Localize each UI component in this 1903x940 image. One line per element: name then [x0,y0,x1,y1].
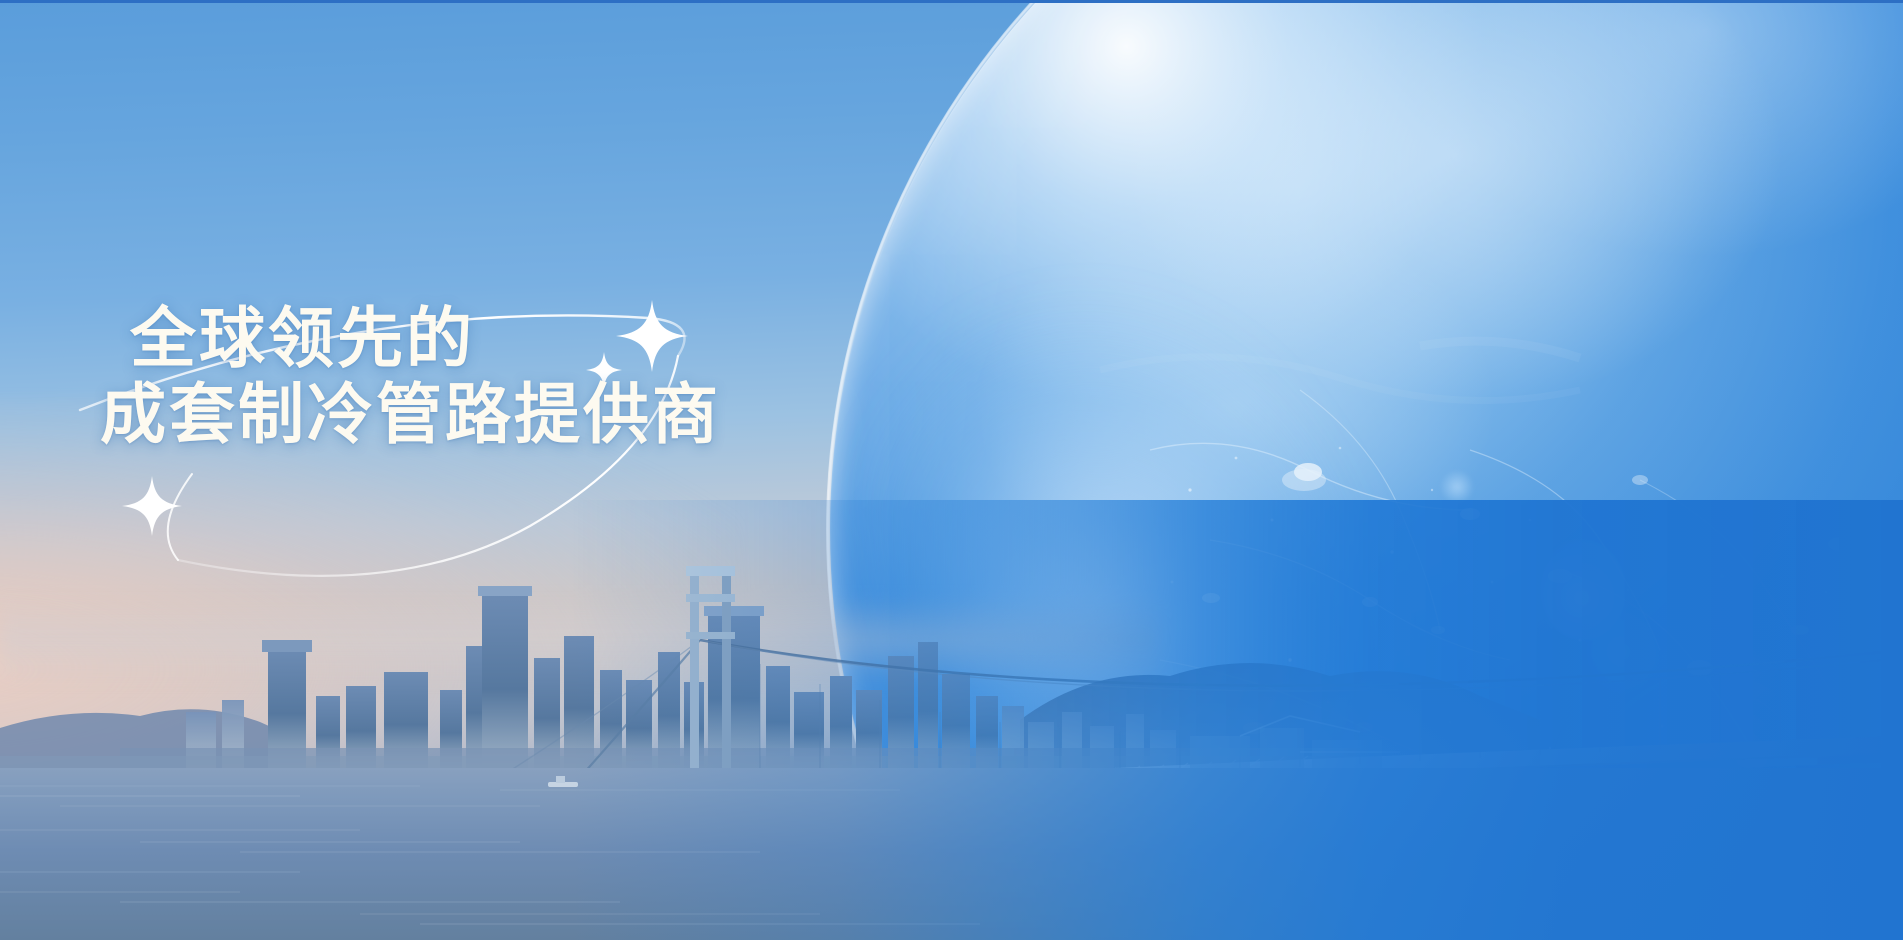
hero-headline: 全球领先的 成套制冷管路提供商 [100,300,820,452]
hero-banner: 全球领先的 成套制冷管路提供商 [0,0,1903,940]
headline-line-2: 成套制冷管路提供商 [100,376,820,452]
sparkle-lower-left [122,476,182,536]
top-rule [0,0,1903,3]
headline-line-1: 全球领先的 [100,300,820,376]
